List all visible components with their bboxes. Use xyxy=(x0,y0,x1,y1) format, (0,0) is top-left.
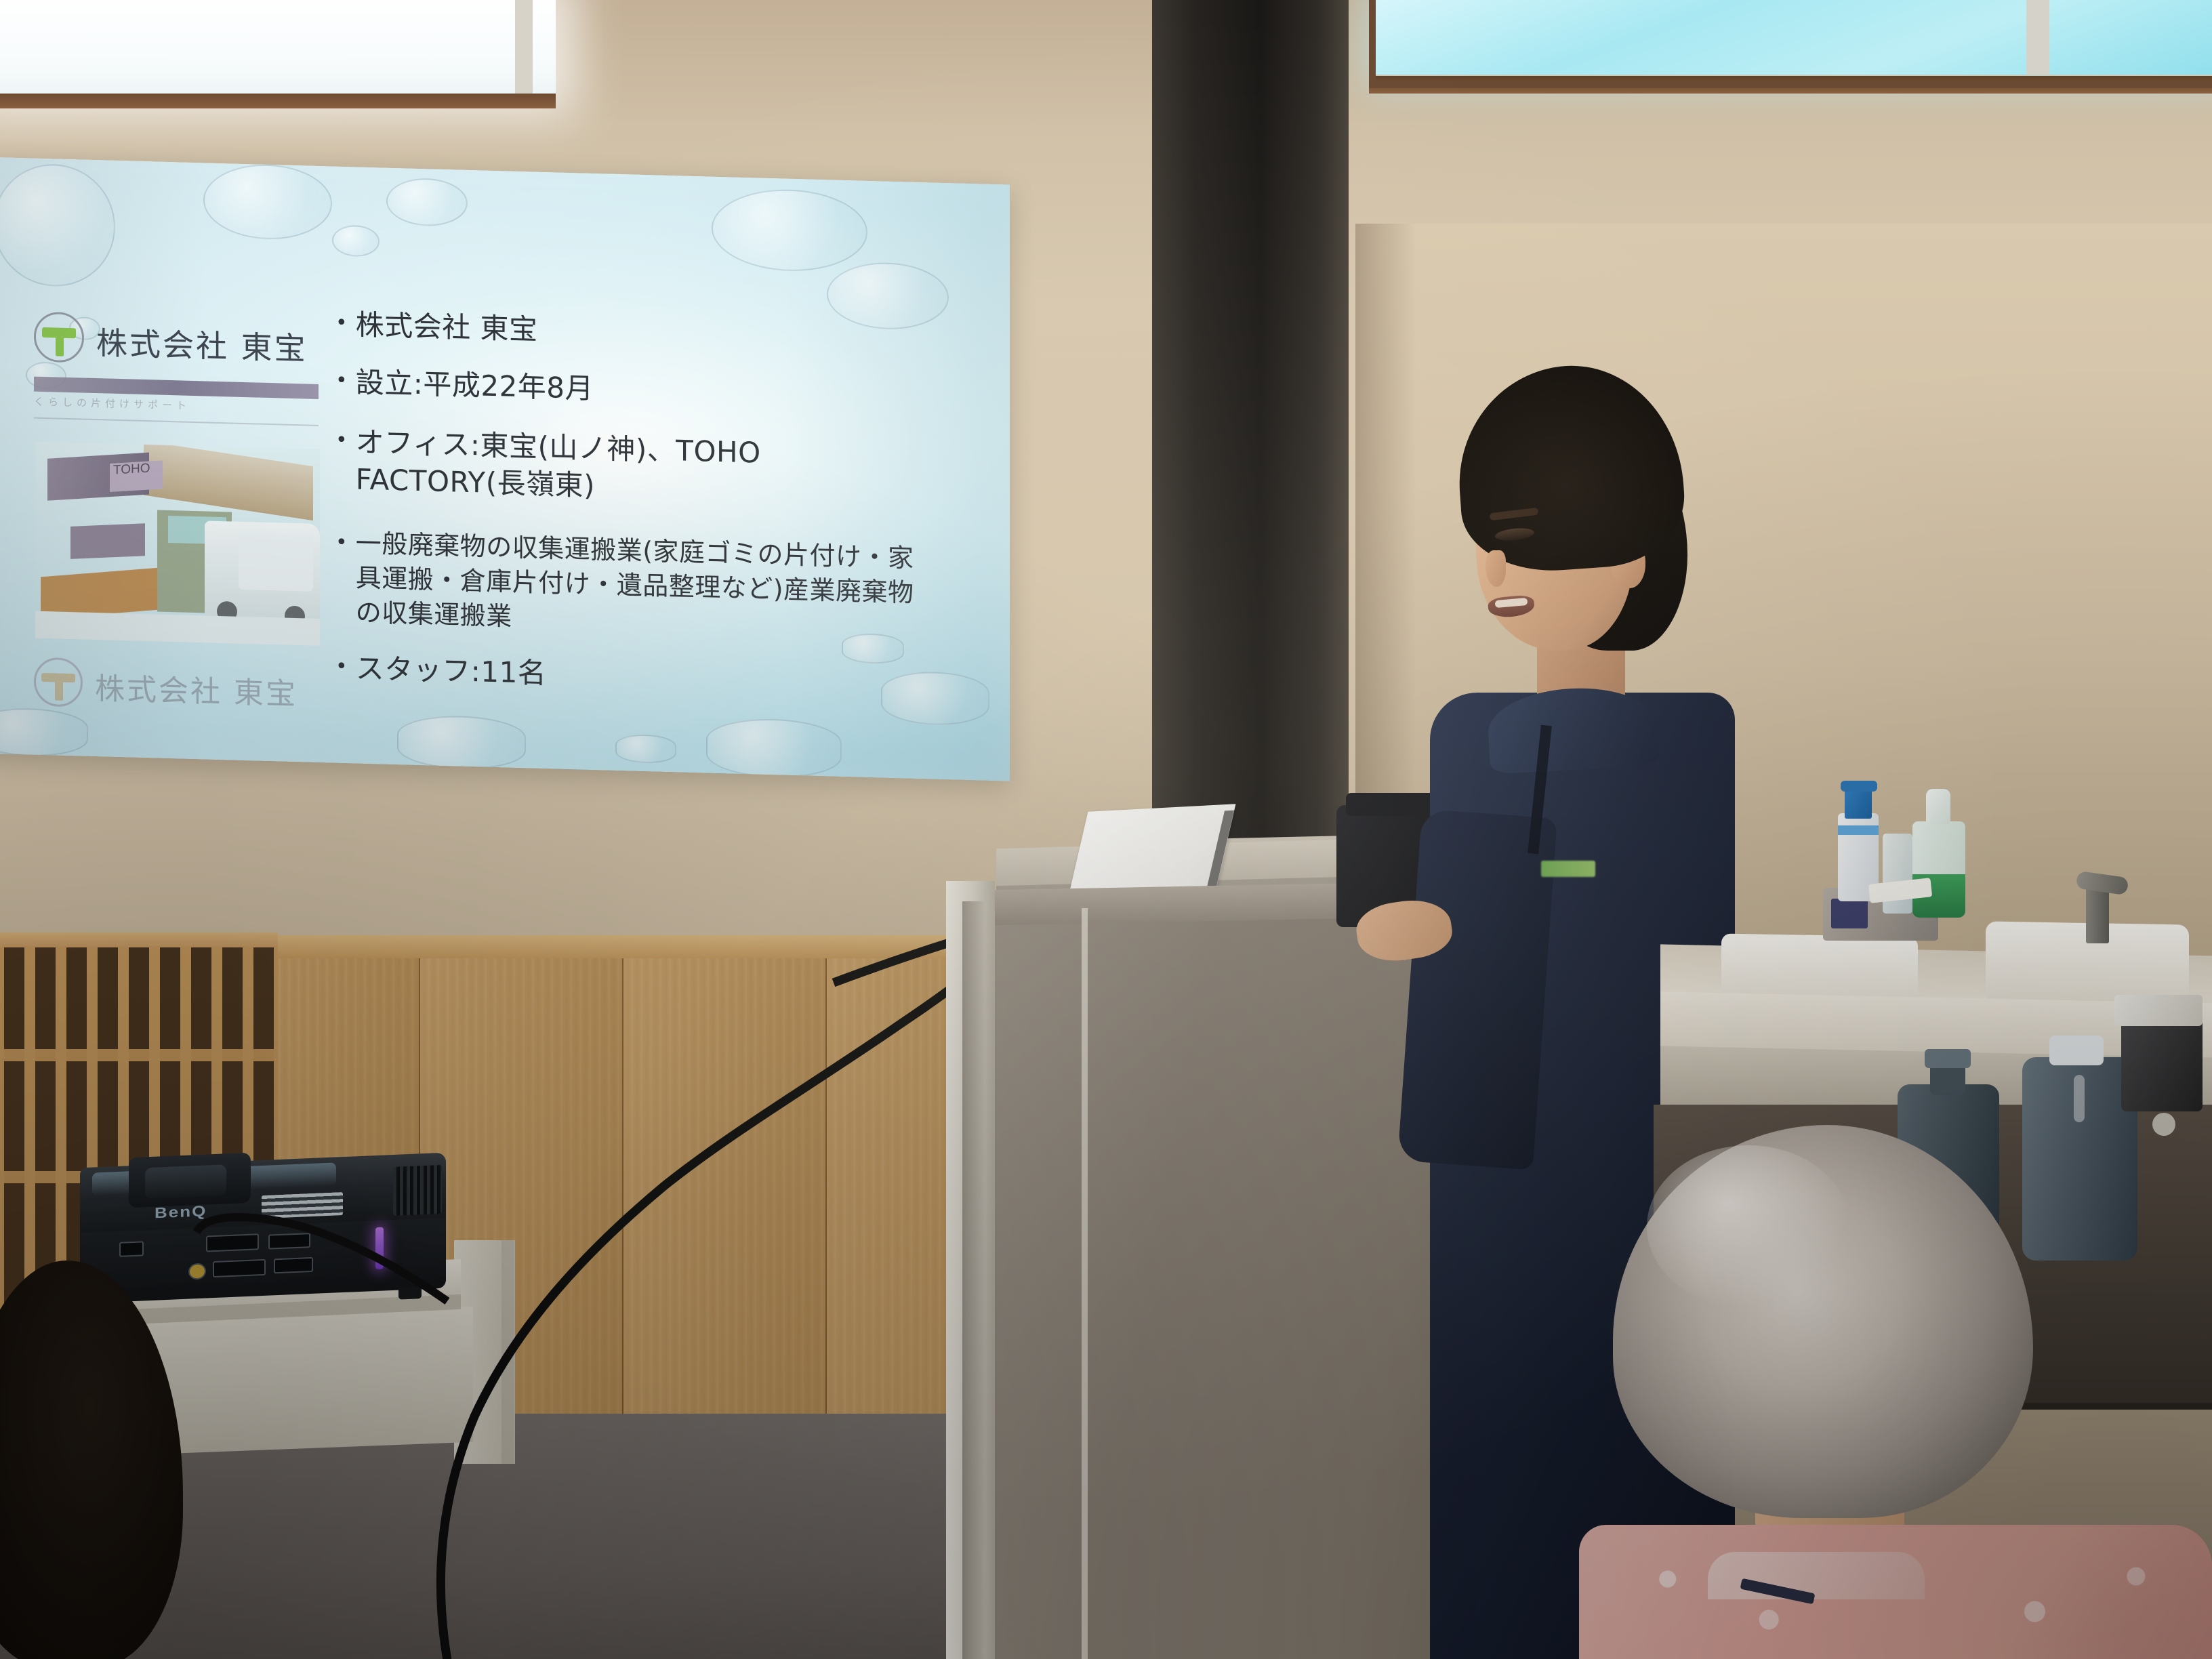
lectern-trim-stripe xyxy=(1082,908,1088,1659)
window-right-frame xyxy=(1369,0,2212,88)
screen-vignette xyxy=(0,157,1010,781)
counter-object-dark xyxy=(2121,1017,2203,1111)
window-left xyxy=(0,0,556,95)
presenter-nose xyxy=(1486,550,1506,587)
water-jug-cap-icon xyxy=(2049,1036,2104,1065)
shirt-logo-icon xyxy=(1541,861,1595,877)
green-dispenser-pump-icon[interactable] xyxy=(1926,789,1950,824)
cabinet-knob-icon[interactable] xyxy=(2152,1113,2175,1136)
projection-screen: 株式会社 東宝 くらしの片付けサポート TOHO xyxy=(0,157,1010,781)
blue-dispenser-nozzle-icon xyxy=(1841,781,1877,792)
clear-bottle xyxy=(1883,834,1912,914)
audience-hair-highlight xyxy=(1647,1145,1850,1308)
presenter-arm xyxy=(1397,809,1557,1170)
blue-dispenser-band xyxy=(1838,825,1879,835)
photo-scene: 株式会社 東宝 くらしの片付けサポート TOHO xyxy=(0,0,2212,1659)
water-jug-highlight xyxy=(2074,1075,2085,1122)
counter-object-white xyxy=(2114,995,2203,1026)
lectern-left-inner-panel xyxy=(962,901,985,1659)
window-left-sill xyxy=(0,94,556,108)
audience-collar xyxy=(1708,1552,1925,1599)
water-jug-cap-icon xyxy=(1925,1049,1971,1068)
cable-to-projector xyxy=(197,1217,447,1301)
soap-tray-label xyxy=(1831,899,1868,928)
window-left-mullion-icon xyxy=(515,0,533,95)
